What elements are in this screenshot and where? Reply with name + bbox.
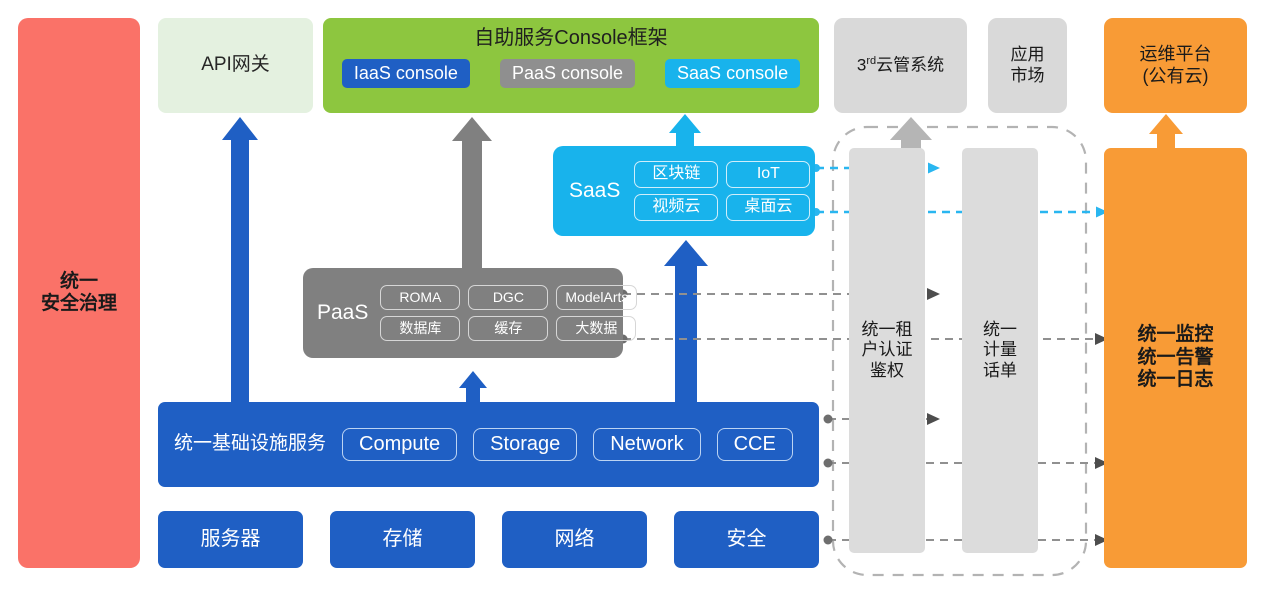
ops-column-line-2: 统一告警 bbox=[1137, 347, 1213, 369]
app-market-line-2: 市场 bbox=[1011, 66, 1045, 86]
blue-arrow-infra-to-paas bbox=[459, 371, 487, 404]
infra-tile-cce[interactable]: CCE bbox=[717, 428, 793, 462]
auth-col-line-1: 统一租 bbox=[862, 320, 913, 340]
unified-monitoring-column: 统一监控 统一告警 统一日志 bbox=[1104, 148, 1247, 568]
blue-arrow-infra-to-saas bbox=[664, 240, 708, 404]
infra-layer-label: 统一基础设施服务 bbox=[174, 433, 326, 455]
orange-arrow-ops bbox=[1149, 114, 1183, 150]
ops-column-line-1: 统一监控 bbox=[1137, 324, 1213, 346]
paas-layer-label: PaaS bbox=[317, 301, 368, 326]
grey-arrow-paas-to-console bbox=[452, 117, 492, 270]
saas-tile-desktop-cloud[interactable]: 桌面云 bbox=[726, 194, 810, 221]
auth-col-line-3: 鉴权 bbox=[870, 361, 904, 381]
infra-tile-storage[interactable]: Storage bbox=[473, 428, 577, 462]
paas-tile-row-1: ROMA DGC ModelArts bbox=[380, 285, 637, 310]
paas-tile-grid: ROMA DGC ModelArts 数据库 缓存 大数据 bbox=[380, 285, 637, 340]
unified-tenant-auth-column: 统一租 户认证 鉴权 bbox=[849, 148, 925, 553]
saas-layer: SaaS 区块链 IoT 视频云 桌面云 bbox=[553, 146, 815, 236]
architecture-diagram: 统一 安全治理 API网关 自助服务Console框架 IaaS console… bbox=[0, 0, 1265, 605]
chip-iaas-console[interactable]: IaaS console bbox=[342, 59, 470, 88]
auth-col-line-2: 户认证 bbox=[862, 340, 913, 360]
paas-tile-roma[interactable]: ROMA bbox=[380, 285, 460, 310]
saas-layer-label: SaaS bbox=[569, 179, 620, 204]
saas-tile-row-2: 视频云 桌面云 bbox=[634, 194, 810, 221]
paas-tile-cache[interactable]: 缓存 bbox=[468, 316, 548, 341]
console-framework-title: 自助服务Console框架 bbox=[474, 27, 667, 51]
resource-label-security: 安全 bbox=[727, 528, 767, 552]
resource-label-server: 服务器 bbox=[201, 528, 261, 552]
saas-tile-grid: 区块链 IoT 视频云 桌面云 bbox=[634, 161, 810, 221]
cyan-arrowhead-1 bbox=[928, 163, 940, 174]
third-party-cloud-mgmt-box[interactable]: 3rd云管系统 bbox=[834, 18, 967, 113]
chip-paas-console[interactable]: PaaS console bbox=[500, 59, 635, 88]
paas-tile-row-2: 数据库 缓存 大数据 bbox=[380, 316, 637, 341]
resource-box-server[interactable]: 服务器 bbox=[158, 511, 303, 568]
third-party-suffix: 云管系统 bbox=[876, 56, 944, 75]
grey-dot-3 bbox=[824, 415, 833, 424]
unified-security-governance-panel: 统一 安全治理 bbox=[18, 18, 140, 568]
resource-box-storage[interactable]: 存储 bbox=[330, 511, 475, 568]
resource-label-storage: 存储 bbox=[383, 528, 423, 552]
saas-tile-iot[interactable]: IoT bbox=[726, 161, 810, 188]
grey-dot-5 bbox=[824, 536, 833, 545]
api-gateway-label: API网关 bbox=[201, 54, 270, 76]
grey-arrowhead-3 bbox=[927, 413, 940, 425]
console-chip-row: IaaS console PaaS console SaaS console bbox=[323, 59, 819, 88]
infra-tile-compute[interactable]: Compute bbox=[342, 428, 457, 462]
unified-metering-column: 统一 计量 话单 bbox=[962, 148, 1038, 553]
resource-box-network[interactable]: 网络 bbox=[502, 511, 647, 568]
saas-tile-row-1: 区块链 IoT bbox=[634, 161, 810, 188]
blue-arrow-infra-to-apigw bbox=[222, 117, 258, 404]
grey-arrowhead-1 bbox=[927, 288, 940, 300]
paas-tile-database[interactable]: 数据库 bbox=[380, 316, 460, 341]
self-service-console-framework: 自助服务Console框架 IaaS console PaaS console … bbox=[323, 18, 819, 113]
third-party-prefix: 3 bbox=[857, 56, 866, 75]
resource-label-network: 网络 bbox=[555, 528, 595, 552]
meter-col-line-2: 计量 bbox=[983, 340, 1017, 360]
resource-box-security[interactable]: 安全 bbox=[674, 511, 819, 568]
security-line-1: 统一 bbox=[60, 271, 98, 293]
api-gateway-box[interactable]: API网关 bbox=[158, 18, 313, 113]
unified-infrastructure-layer: 统一基础设施服务 Compute Storage Network CCE bbox=[158, 402, 819, 487]
third-party-sup: rd bbox=[866, 55, 876, 67]
chip-saas-console[interactable]: SaaS console bbox=[665, 59, 800, 88]
paas-tile-dgc[interactable]: DGC bbox=[468, 285, 548, 310]
ops-platform-box[interactable]: 运维平台 (公有云) bbox=[1104, 18, 1247, 113]
meter-col-line-3: 话单 bbox=[983, 361, 1017, 381]
app-market-line-1: 应用 bbox=[1011, 45, 1045, 65]
ops-platform-line-2: (公有云) bbox=[1143, 66, 1209, 87]
paas-tile-bigdata[interactable]: 大数据 bbox=[556, 316, 636, 341]
paas-layer: PaaS ROMA DGC ModelArts 数据库 缓存 大数据 bbox=[303, 268, 623, 358]
paas-tile-modelarts[interactable]: ModelArts bbox=[556, 285, 637, 310]
third-party-label: 3rd云管系统 bbox=[857, 55, 944, 76]
saas-tile-blockchain[interactable]: 区块链 bbox=[634, 161, 718, 188]
security-line-2: 安全治理 bbox=[41, 293, 117, 315]
saas-tile-video-cloud[interactable]: 视频云 bbox=[634, 194, 718, 221]
meter-col-line-1: 统一 bbox=[983, 320, 1017, 340]
grey-dot-4 bbox=[824, 459, 833, 468]
infra-tile-network[interactable]: Network bbox=[593, 428, 700, 462]
app-market-box[interactable]: 应用 市场 bbox=[988, 18, 1067, 113]
ops-platform-line-1: 运维平台 bbox=[1140, 44, 1212, 65]
ops-column-line-3: 统一日志 bbox=[1137, 369, 1213, 391]
